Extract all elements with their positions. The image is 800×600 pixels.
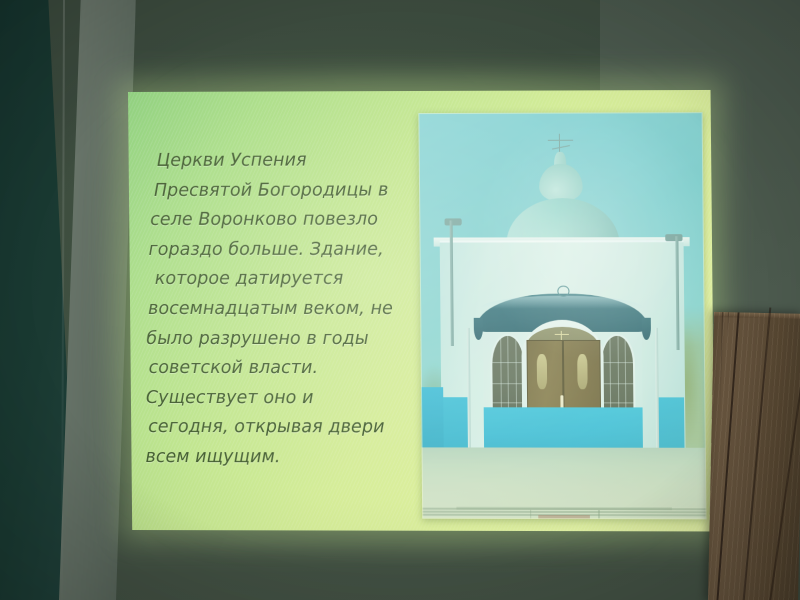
step-center-tile: [538, 515, 589, 518]
window-grille-bar: [602, 383, 633, 384]
window-grille-bar: [602, 403, 633, 404]
cyan-base-right: [658, 397, 684, 452]
window-grille-bar: [492, 362, 523, 363]
church-photo[interactable]: [418, 112, 706, 519]
roof-fixture-right-cap: [665, 234, 682, 241]
slide-body-text: Церкви Успения Пресвятой Богородицы в се…: [143, 146, 427, 473]
slide-text-line: Существует оно и: [145, 384, 426, 414]
step-seam: [598, 510, 599, 519]
roof-fixture-left-cap: [444, 218, 461, 225]
presentation-slide[interactable]: Церкви Успения Пресвятой Богородицы в се…: [128, 90, 715, 532]
door-panel: [537, 354, 548, 389]
porch-eave-left: [474, 318, 483, 340]
window-grille-bar: [492, 383, 523, 384]
wooden-board: [708, 312, 800, 600]
cyan-base-center: [483, 407, 643, 451]
window-grille-bar: [602, 362, 633, 363]
slide-text-line: советской власти.: [145, 354, 426, 384]
slide-text-line: гораздо больше. Здание,: [143, 235, 424, 265]
stone-steps: [422, 448, 707, 520]
slide-text-line: сегодня, открывая двери: [145, 413, 426, 443]
screenshot-scene: Церкви Успения Пресвятой Богородицы в се…: [0, 0, 800, 600]
step-seam: [530, 510, 531, 519]
step-edge: [422, 508, 706, 510]
slide-text-line: которое датируется: [144, 265, 425, 295]
slide-text-line: Пресвятой Богородицы в: [143, 176, 424, 206]
doorway-cross-icon-bar: [555, 334, 569, 335]
orthodox-cross-bar-upper: [548, 139, 574, 140]
porch-finial-icon: [557, 286, 569, 297]
slide-text-line: селе Воронково повезло: [143, 206, 424, 236]
slide-text-line: всем ищущим.: [145, 443, 426, 473]
slide-text-line: восемнадцатым веком, не: [144, 295, 425, 325]
door-panel: [577, 354, 588, 389]
slide-text-line: Церкви Успения: [143, 146, 424, 176]
slide-text-line: было разрушено в годы: [144, 324, 425, 354]
porch-eave-right: [642, 318, 651, 340]
cyan-base-left: [441, 397, 470, 452]
cyan-base-far-left: [421, 387, 444, 448]
step-edge: [422, 511, 706, 513]
window-grille-bar: [493, 403, 524, 404]
church-photo-content: [418, 112, 706, 519]
